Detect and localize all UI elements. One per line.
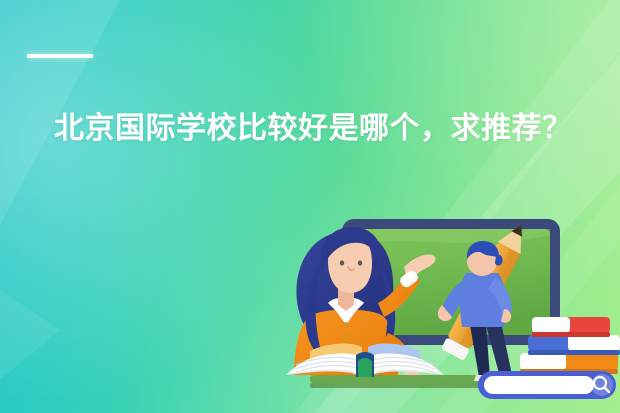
online-education-illustration <box>280 205 620 413</box>
page-title: 北京国际学校比较好是哪个，求推荐？ <box>54 100 574 157</box>
search-bar[interactable] <box>478 371 616 399</box>
banner-image: 北京国际学校比较好是哪个，求推荐？ <box>0 0 620 413</box>
accent-dash <box>27 54 93 58</box>
book-stack <box>520 317 620 374</box>
